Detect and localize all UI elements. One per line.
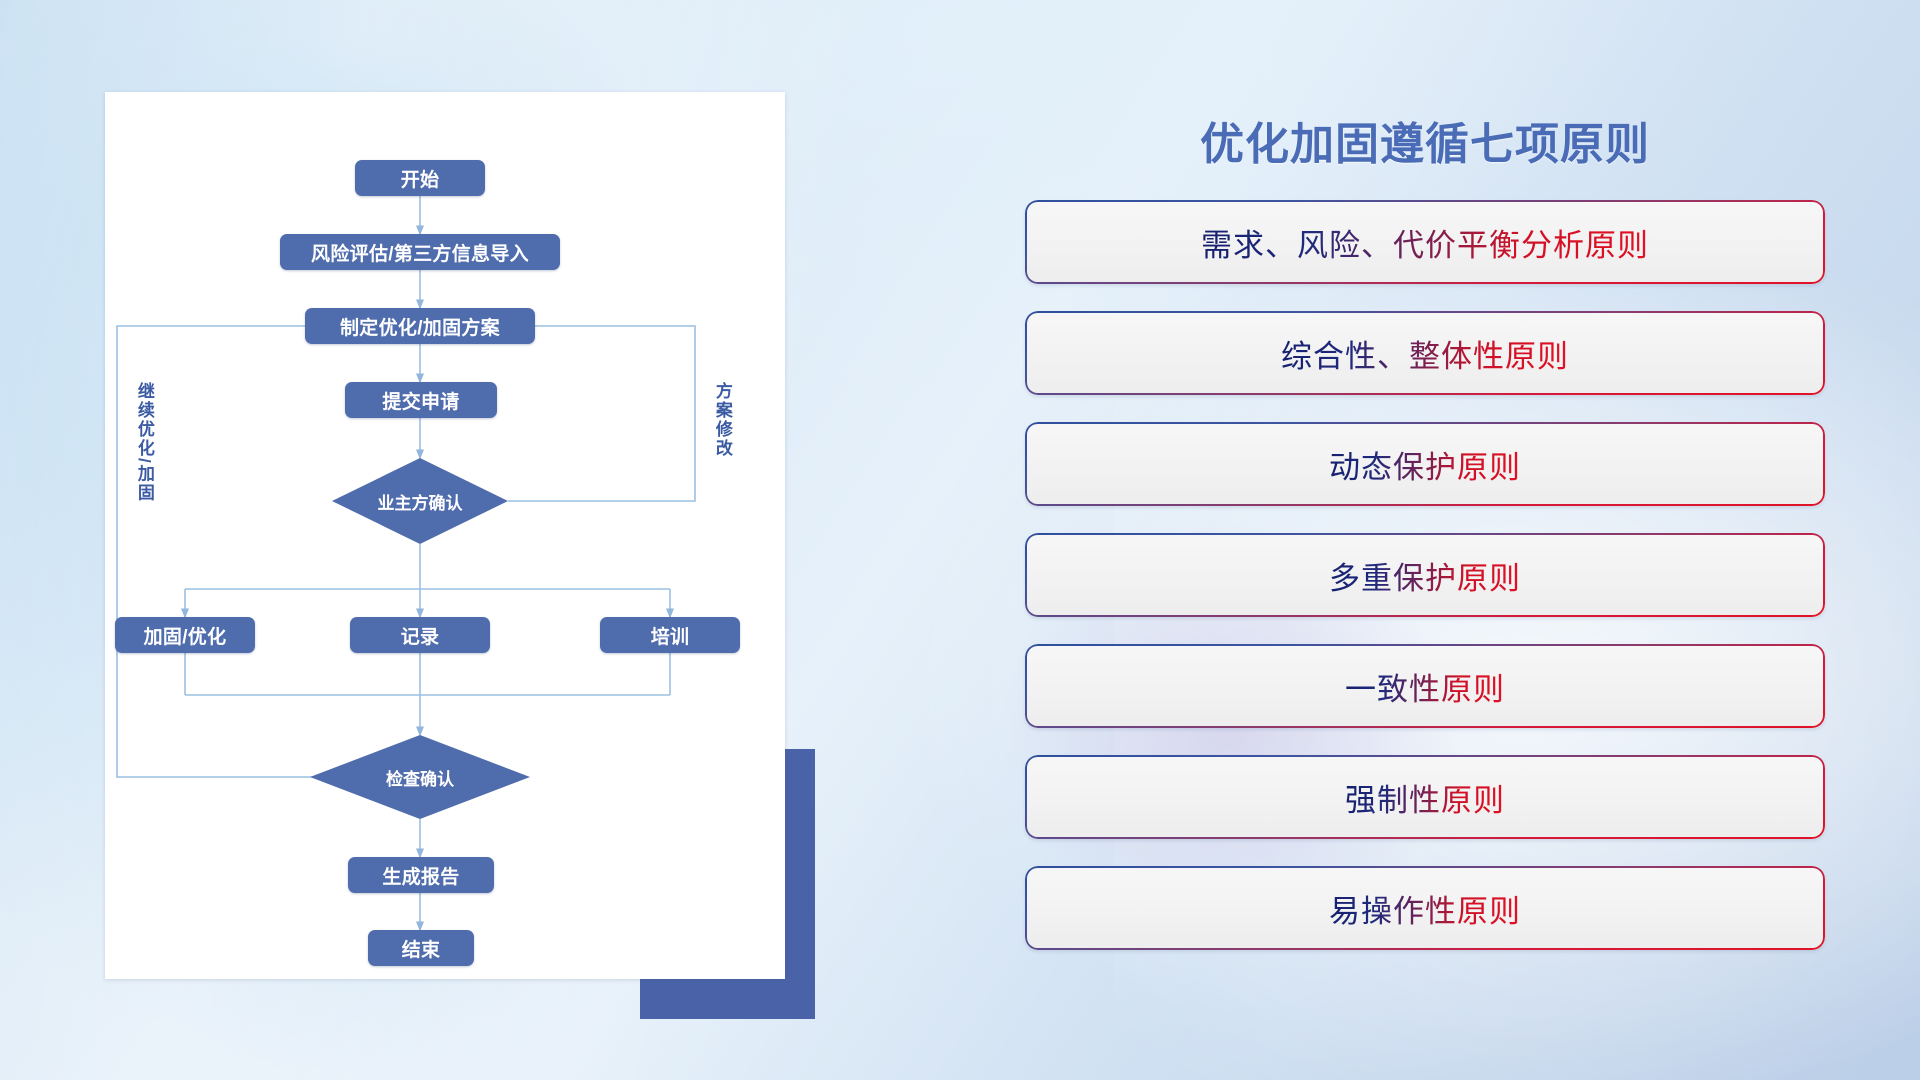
node-reinforce-optimize-label: 加固/优化 (144, 622, 227, 649)
principle-item[interactable]: 需求、风险、代价平衡分析原则 (1025, 200, 1825, 284)
principle-label: 强制性原则 (1345, 775, 1505, 820)
decision-check-confirm (310, 735, 530, 819)
node-end[interactable]: 结束 (368, 930, 474, 966)
node-end-label: 结束 (402, 935, 441, 962)
principles-panel: 优化加固遵循七项原则 需求、风险、代价平衡分析原则 综合性、整体性原则 动态保护… (1010, 80, 1840, 1010)
node-start[interactable]: 开始 (355, 160, 485, 196)
principle-label: 综合性、整体性原则 (1281, 331, 1569, 376)
edge-label-continue-optimize: 继续优化/加固 (135, 382, 153, 503)
principle-label: 易操作性原则 (1329, 886, 1521, 931)
principle-label: 一致性原则 (1345, 664, 1505, 709)
node-record-label: 记录 (401, 622, 440, 649)
principle-label: 多重保护原则 (1329, 553, 1521, 598)
principle-item[interactable]: 一致性原则 (1025, 644, 1825, 728)
node-start-label: 开始 (401, 165, 440, 192)
node-training-label: 培训 (651, 622, 690, 649)
flowchart-connectors (105, 92, 785, 979)
principle-item[interactable]: 强制性原则 (1025, 755, 1825, 839)
node-plan[interactable]: 制定优化/加固方案 (305, 308, 535, 344)
node-risk-assessment-label: 风险评估/第三方信息导入 (311, 239, 529, 266)
principle-label: 需求、风险、代价平衡分析原则 (1201, 220, 1649, 265)
decision-owner-confirm (332, 458, 508, 544)
node-reinforce-optimize[interactable]: 加固/优化 (115, 617, 255, 653)
node-generate-report[interactable]: 生成报告 (348, 857, 494, 893)
edge-label-plan-revision: 方案修改 (713, 382, 731, 458)
node-submit-application[interactable]: 提交申请 (345, 382, 497, 418)
principle-item[interactable]: 多重保护原则 (1025, 533, 1825, 617)
node-generate-report-label: 生成报告 (382, 862, 459, 889)
node-risk-assessment[interactable]: 风险评估/第三方信息导入 (280, 234, 560, 270)
node-plan-label: 制定优化/加固方案 (340, 313, 500, 340)
principle-item[interactable]: 动态保护原则 (1025, 422, 1825, 506)
node-submit-application-label: 提交申请 (382, 387, 459, 414)
principle-item[interactable]: 易操作性原则 (1025, 866, 1825, 950)
principle-list: 需求、风险、代价平衡分析原则 综合性、整体性原则 动态保护原则 多重保护原则 一… (1025, 200, 1825, 977)
principle-label: 动态保护原则 (1329, 442, 1521, 487)
flowchart-panel: 开始 风险评估/第三方信息导入 制定优化/加固方案 提交申请 业主方确认 加固/… (105, 92, 795, 992)
node-record[interactable]: 记录 (350, 617, 490, 653)
principle-item[interactable]: 综合性、整体性原则 (1025, 311, 1825, 395)
node-training[interactable]: 培训 (600, 617, 740, 653)
panel-title: 优化加固遵循七项原则 (1010, 108, 1840, 172)
